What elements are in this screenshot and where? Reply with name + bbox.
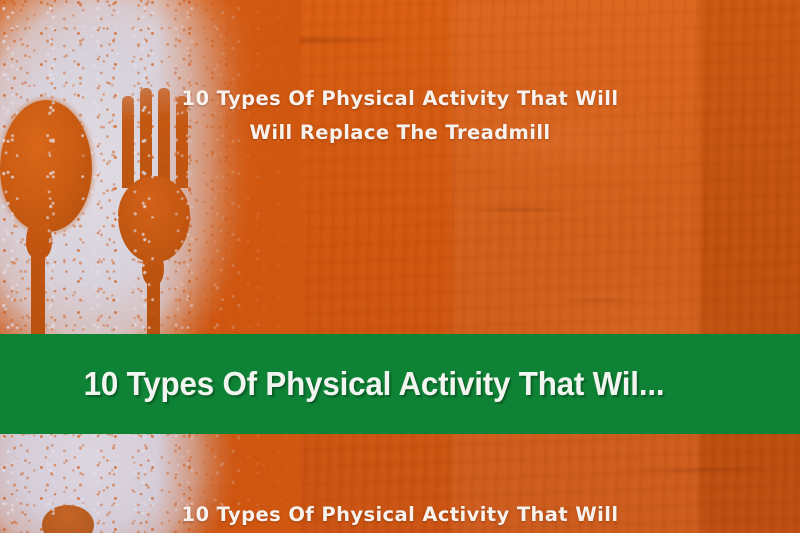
- powder-edge-fade: [0, 0, 300, 533]
- powder-utensils-photo: [0, 0, 300, 533]
- headline-top: 10 Types Of Physical Activity That Will …: [0, 82, 800, 150]
- headline-bottom-line-1: 10 Types Of Physical Activity That Will: [182, 503, 619, 526]
- banner-title-text: 10 Types Of Physical Activity That Wil..…: [0, 365, 664, 403]
- headline-top-line-1: 10 Types Of Physical Activity That Will: [0, 82, 800, 116]
- headline-bottom: 10 Types Of Physical Activity That Will: [0, 500, 800, 530]
- headline-top-line-2: Will Replace The Treadmill: [0, 116, 800, 150]
- title-card: 10 Types Of Physical Activity That Will …: [0, 0, 800, 533]
- green-title-banner: 10 Types Of Physical Activity That Wil..…: [0, 334, 800, 434]
